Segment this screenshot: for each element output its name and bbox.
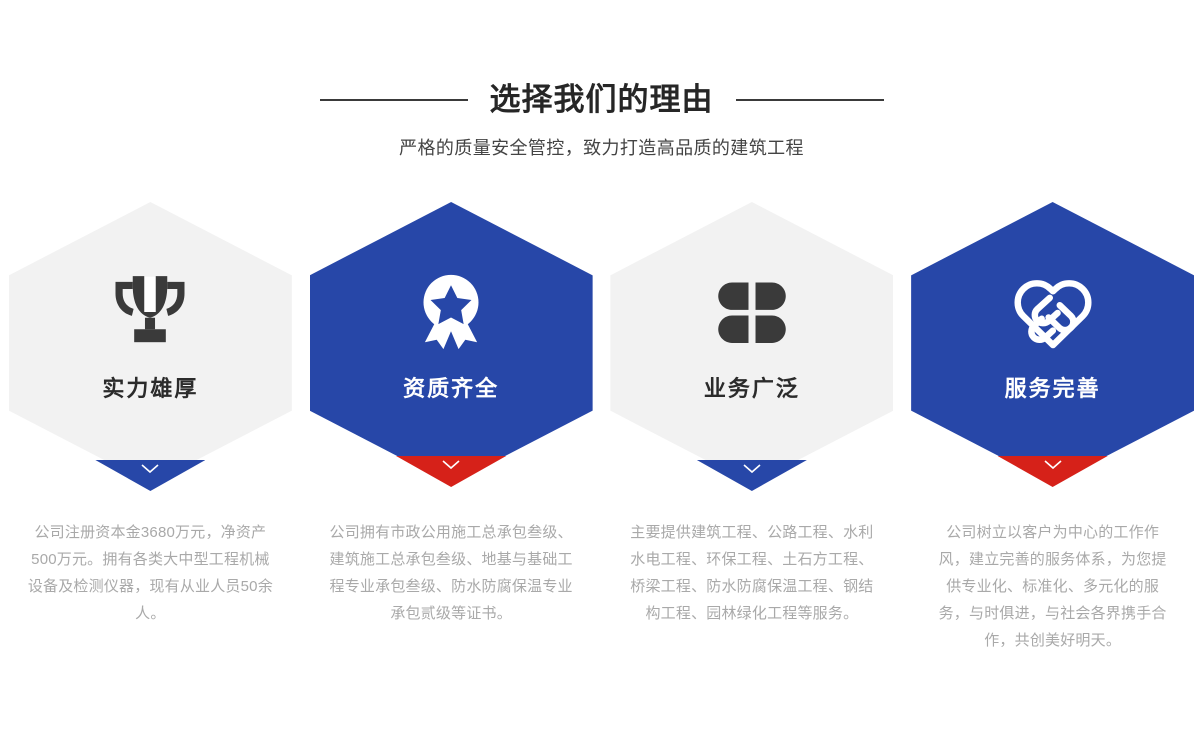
title-row: 选择我们的理由 [0, 78, 1203, 122]
section-header: 选择我们的理由 严格的质量安全管控，致力打造高品质的建筑工程 [0, 78, 1203, 161]
hexagon-wrap: 服务完善 [902, 196, 1203, 486]
handshake-heart-icon [1005, 264, 1101, 360]
card-expand-tab[interactable] [396, 456, 506, 487]
divider-left-line [320, 99, 468, 101]
feature-card-title: 实力雄厚 [102, 374, 198, 404]
divider-right-line [736, 99, 884, 101]
hexagon-wrap: 业务广泛 [602, 196, 903, 486]
feature-card-description: 公司拥有市政公用施工总承包叁级、建筑施工总承包叁级、地基与基础工程专业承包叁级、… [328, 519, 574, 627]
page-title: 选择我们的理由 [490, 78, 714, 122]
hexagon-wrap: 实力雄厚 [0, 196, 301, 486]
trophy-icon [102, 264, 198, 360]
feature-card-list: 实力雄厚 公司注册资本金3680万元，净资产500万元。拥有各类大中型工程机械设… [0, 196, 1203, 696]
four-petal-clover-icon [704, 264, 800, 360]
hexagon-shape: 业务广泛 [610, 202, 893, 484]
hexagon-shape: 资质齐全 [310, 202, 593, 484]
chevron-down-icon [441, 459, 461, 470]
feature-card-strength[interactable]: 实力雄厚 公司注册资本金3680万元，净资产500万元。拥有各类大中型工程机械设… [0, 196, 301, 696]
card-expand-tab[interactable] [95, 460, 205, 491]
page-subtitle: 严格的质量安全管控，致力打造高品质的建筑工程 [0, 135, 1203, 161]
medal-ribbon-icon [403, 264, 499, 360]
chevron-down-icon [742, 463, 762, 474]
feature-card-description: 主要提供建筑工程、公路工程、水利水电工程、环保工程、土石方工程、桥梁工程、防水防… [627, 519, 877, 627]
feature-card-title: 服务完善 [1005, 374, 1101, 404]
card-expand-tab[interactable] [998, 456, 1108, 487]
feature-card-description: 公司树立以客户为中心的工作作风，建立完善的服务体系，为您提供专业化、标准化、多元… [934, 519, 1172, 654]
card-expand-tab[interactable] [697, 460, 807, 491]
feature-card-description: 公司注册资本金3680万元，净资产500万元。拥有各类大中型工程机械设备及检测仪… [27, 519, 273, 627]
chevron-down-icon [1043, 459, 1063, 470]
feature-card-service[interactable]: 服务完善 公司树立以客户为中心的工作作风，建立完善的服务体系，为您提供专业化、标… [902, 196, 1203, 696]
feature-card-qualification[interactable]: 资质齐全 公司拥有市政公用施工总承包叁级、建筑施工总承包叁级、地基与基础工程专业… [301, 196, 602, 696]
feature-card-title: 资质齐全 [403, 374, 499, 404]
hexagon-wrap: 资质齐全 [301, 196, 602, 486]
feature-card-business-scope[interactable]: 业务广泛 主要提供建筑工程、公路工程、水利水电工程、环保工程、土石方工程、桥梁工… [602, 196, 903, 696]
hexagon-shape: 服务完善 [911, 202, 1194, 484]
hexagon-shape: 实力雄厚 [9, 202, 292, 484]
chevron-down-icon [140, 463, 160, 474]
feature-card-title: 业务广泛 [704, 374, 800, 404]
